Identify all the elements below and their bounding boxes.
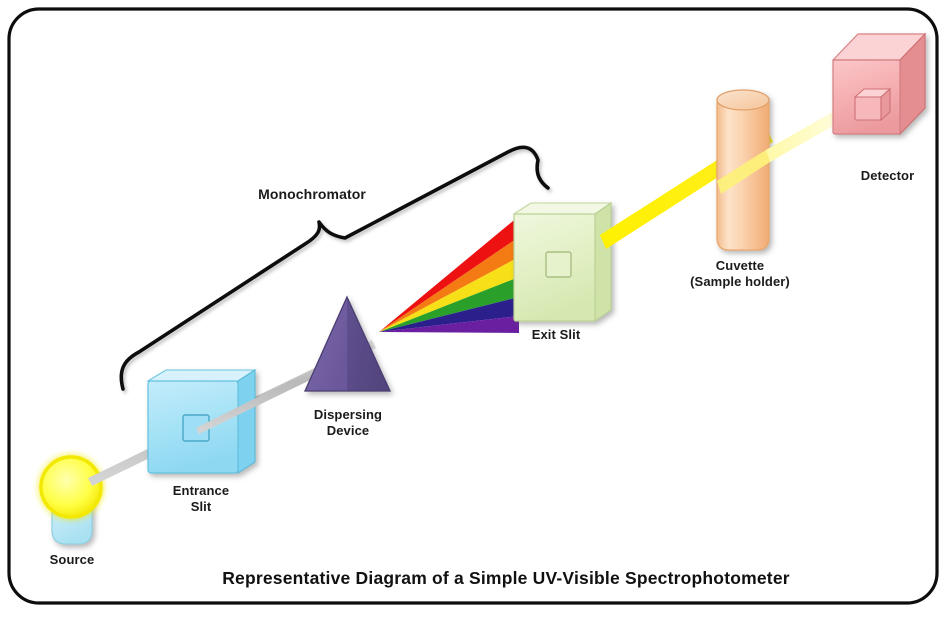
entrance-slit-side	[238, 370, 255, 473]
exit-slit-side	[595, 203, 611, 321]
detector-cube	[833, 34, 925, 134]
entrance-slit-box	[148, 370, 255, 473]
diagram-title: Representative Diagram of a Simple UV-Vi…	[156, 568, 856, 589]
cuvette-top	[717, 90, 769, 110]
detector-sensor-icon	[855, 89, 890, 120]
exit-slit-box	[514, 203, 611, 321]
diagram-canvas: Source Entrance Slit Dispersing Device E…	[0, 0, 952, 624]
source-glow-icon	[41, 457, 101, 517]
diagram-graphics	[0, 0, 952, 624]
exit-slit-aperture	[546, 252, 571, 277]
entrance-slit-top	[148, 370, 255, 381]
